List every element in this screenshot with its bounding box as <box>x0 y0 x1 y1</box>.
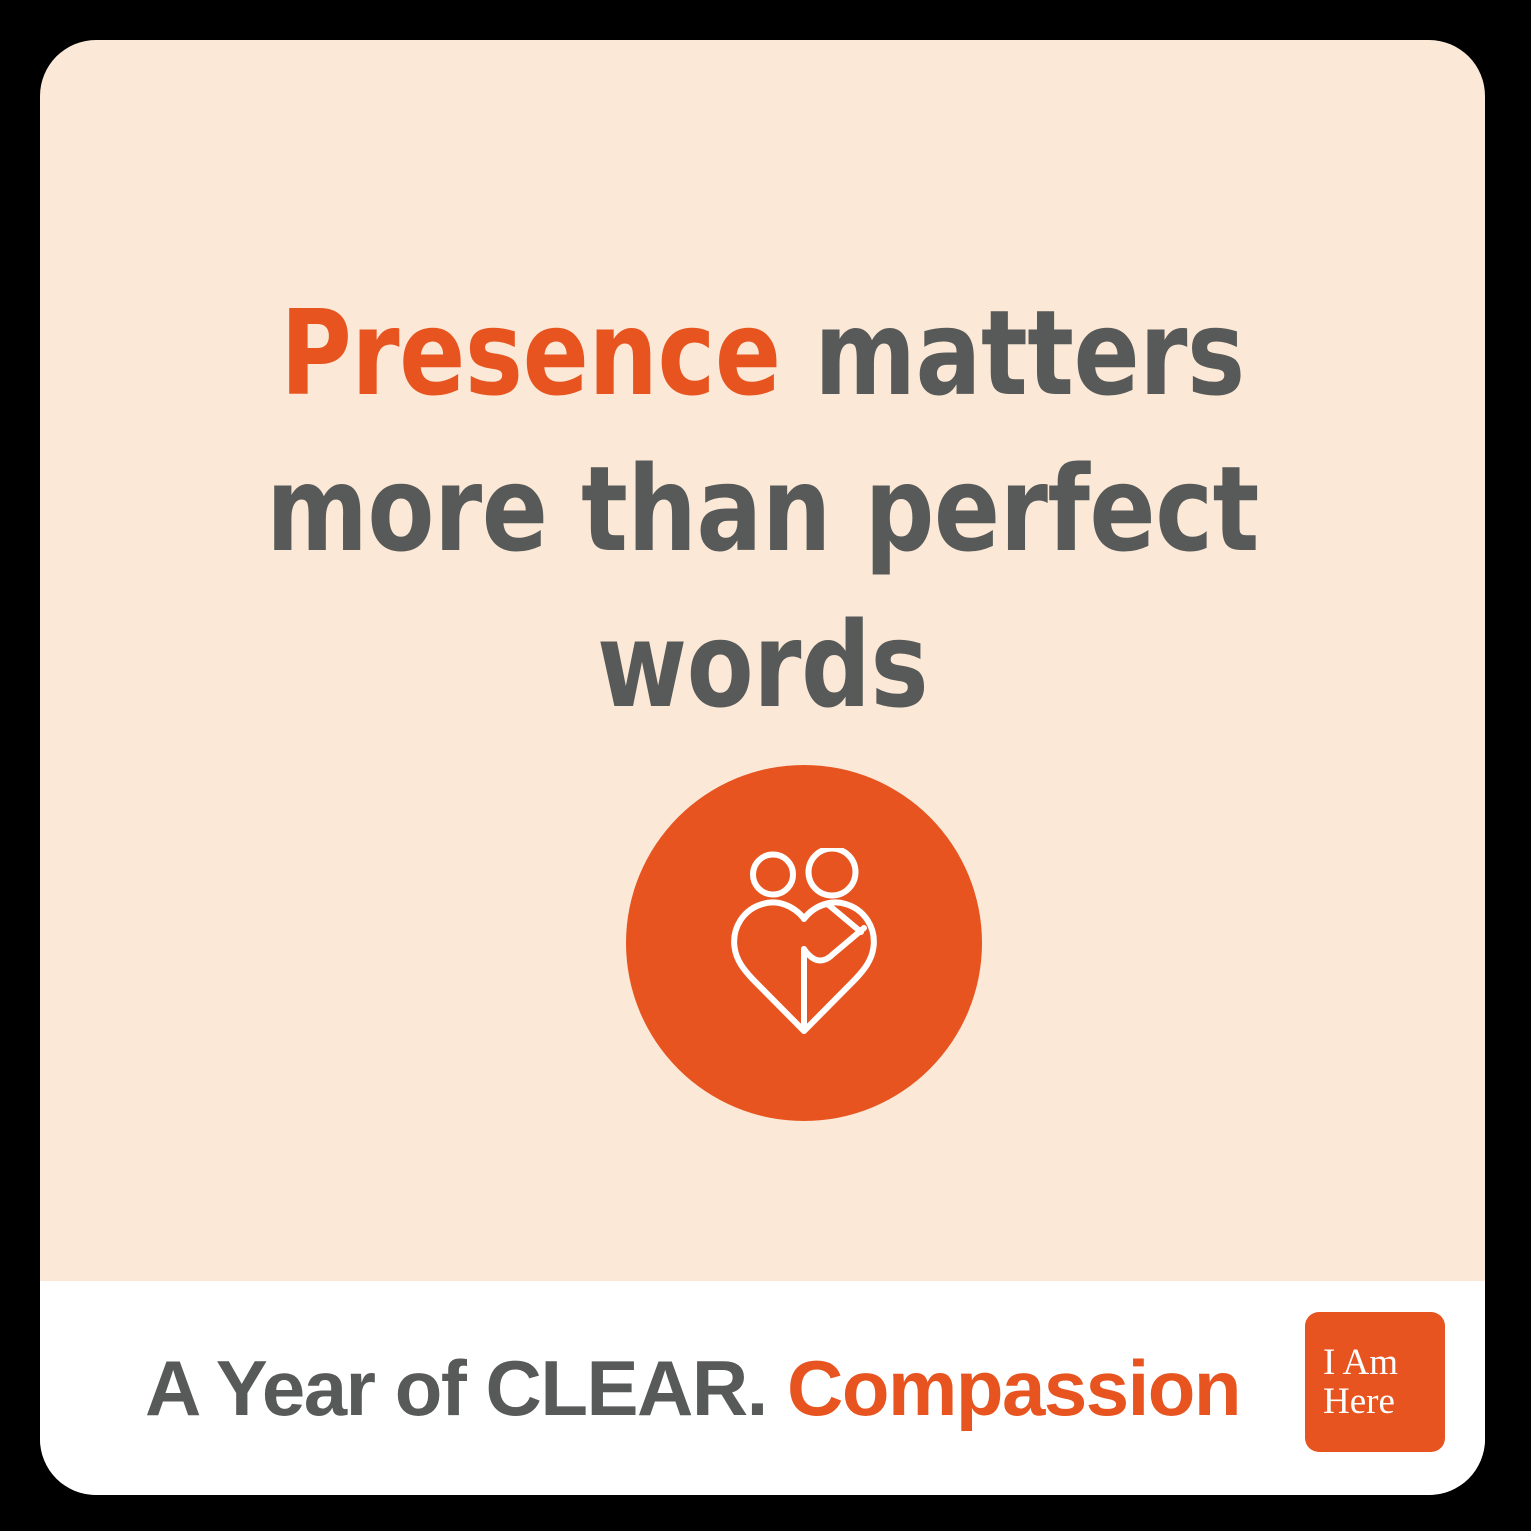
page-title: Presence matters more than perfect words <box>98 276 1427 743</box>
two-people-heart-icon <box>719 848 889 1038</box>
card-body: Presence matters more than perfect words <box>40 40 1485 1281</box>
footer-title-accent: Compassion <box>767 1344 1240 1432</box>
quote-card: Presence matters more than perfect words… <box>40 40 1485 1495</box>
brand-logo: I Am Here <box>1305 1312 1445 1452</box>
headline-accent-word: Presence <box>280 284 780 422</box>
icon-badge <box>626 765 982 1121</box>
brand-logo-line-2: Here <box>1323 1382 1395 1421</box>
brand-logo-line-1: I Am <box>1323 1343 1398 1382</box>
page-root: Presence matters more than perfect words… <box>0 0 1531 1531</box>
footer-title: A Year of CLEAR. Compassion <box>145 1349 1240 1427</box>
footer-bar: A Year of CLEAR. Compassion I Am Here <box>40 1281 1485 1495</box>
footer-title-prefix: A Year of CLEAR. <box>145 1344 767 1432</box>
